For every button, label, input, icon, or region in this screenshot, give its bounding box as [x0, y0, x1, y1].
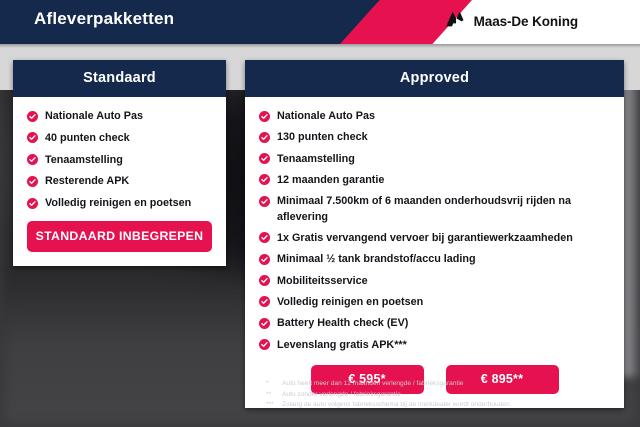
check-circle-icon	[259, 153, 270, 164]
check-circle-icon	[259, 296, 270, 307]
list-item: Nationale Auto Pas	[27, 109, 212, 124]
check-circle-icon	[27, 198, 38, 209]
feature-text: Levenslang gratis APK***	[277, 338, 407, 353]
list-item: 1x Gratis vervangend vervoer bij garanti…	[259, 231, 610, 246]
check-circle-icon	[27, 154, 38, 165]
footnote-2: ** Auto zonder verlengde / fabrieksgaran…	[266, 390, 626, 401]
card-standaard-title: Standaard	[13, 60, 226, 97]
list-item: Volledig reinigen en poetsen	[27, 196, 212, 211]
list-item: Tenaamstelling	[27, 153, 212, 168]
list-item: Minimaal 7.500km of 6 maanden onderhouds…	[259, 194, 610, 225]
promo-graphic: Afleverpakketten Maas-De Koning Standaar…	[0, 0, 640, 427]
feature-text: Battery Health check (EV)	[277, 316, 408, 331]
check-circle-icon	[27, 132, 38, 143]
feature-text: Volledig reinigen en poetsen	[277, 295, 423, 310]
list-item: 130 punten check	[259, 130, 610, 145]
footnotes: * Auto heeft meer dan 12 maanden verleng…	[266, 379, 626, 411]
check-circle-icon	[259, 339, 270, 350]
feature-text: Minimaal 7.500km of 6 maanden onderhouds…	[277, 194, 610, 225]
footnote-marker: ***	[266, 400, 282, 411]
feature-text: 40 punten check	[45, 131, 130, 146]
list-item: Volledig reinigen en poetsen	[259, 295, 610, 310]
footnote-marker: *	[266, 379, 282, 390]
maas-de-koning-m-logo-icon	[445, 11, 467, 32]
feature-text: 130 punten check	[277, 130, 368, 145]
page-title: Afleverpakketten	[34, 9, 174, 29]
card-standaard: Standaard Nationale Auto Pas 40 punten c…	[13, 60, 226, 266]
list-item: Mobiliteitsservice	[259, 274, 610, 289]
brand-logo: Maas-De Koning	[445, 11, 578, 32]
list-item: Nationale Auto Pas	[259, 109, 610, 124]
check-circle-icon	[259, 275, 270, 286]
list-item: Battery Health check (EV)	[259, 316, 610, 331]
check-circle-icon	[259, 254, 270, 265]
feature-text: Volledig reinigen en poetsen	[45, 196, 191, 211]
check-circle-icon	[259, 132, 270, 143]
card-approved-title: Approved	[245, 60, 624, 97]
footnote-1: * Auto heeft meer dan 12 maanden verleng…	[266, 379, 626, 390]
check-circle-icon	[259, 196, 270, 207]
check-circle-icon	[27, 111, 38, 122]
list-item: Levenslang gratis APK***	[259, 338, 610, 353]
feature-text: Mobiliteitsservice	[277, 274, 368, 289]
footnote-text: Zolang de auto volgens fabrieksschema bi…	[282, 400, 510, 411]
feature-text: Minimaal ½ tank brandstof/accu lading	[277, 252, 476, 267]
list-item: Minimaal ½ tank brandstof/accu lading	[259, 252, 610, 267]
check-circle-icon	[259, 111, 270, 122]
standaard-feature-list: Nationale Auto Pas 40 punten check Tenaa…	[27, 109, 212, 212]
feature-text: 12 maanden garantie	[277, 173, 384, 188]
brand-name: Maas-De Koning	[474, 14, 578, 29]
check-circle-icon	[259, 232, 270, 243]
header-bar: Afleverpakketten Maas-De Koning	[0, 0, 640, 44]
list-item: 40 punten check	[27, 131, 212, 146]
feature-text: Nationale Auto Pas	[45, 109, 143, 124]
list-item: 12 maanden garantie	[259, 173, 610, 188]
feature-text: 1x Gratis vervangend vervoer bij garanti…	[277, 231, 573, 246]
feature-text: Tenaamstelling	[45, 153, 123, 168]
card-approved: Approved Nationale Auto Pas 130 punten c…	[245, 60, 624, 408]
check-circle-icon	[259, 318, 270, 329]
check-circle-icon	[259, 174, 270, 185]
standaard-inbegrepen-button[interactable]: STANDAARD INBEGREPEN	[27, 221, 212, 252]
feature-text: Tenaamstelling	[277, 152, 355, 167]
footnote-3: *** Zolang de auto volgens fabrieksschem…	[266, 400, 626, 411]
panel-shadow	[0, 44, 640, 48]
list-item: Tenaamstelling	[259, 152, 610, 167]
feature-text: Resterende APK	[45, 174, 129, 189]
footnote-text: Auto heeft meer dan 12 maanden verlengde…	[282, 379, 463, 390]
approved-feature-list: Nationale Auto Pas 130 punten check Tena…	[259, 109, 610, 353]
footnote-text: Auto zonder verlengde / fabrieksgarantie	[282, 390, 401, 401]
list-item: Resterende APK	[27, 174, 212, 189]
check-circle-icon	[27, 176, 38, 187]
footnote-marker: **	[266, 390, 282, 401]
feature-text: Nationale Auto Pas	[277, 109, 375, 124]
